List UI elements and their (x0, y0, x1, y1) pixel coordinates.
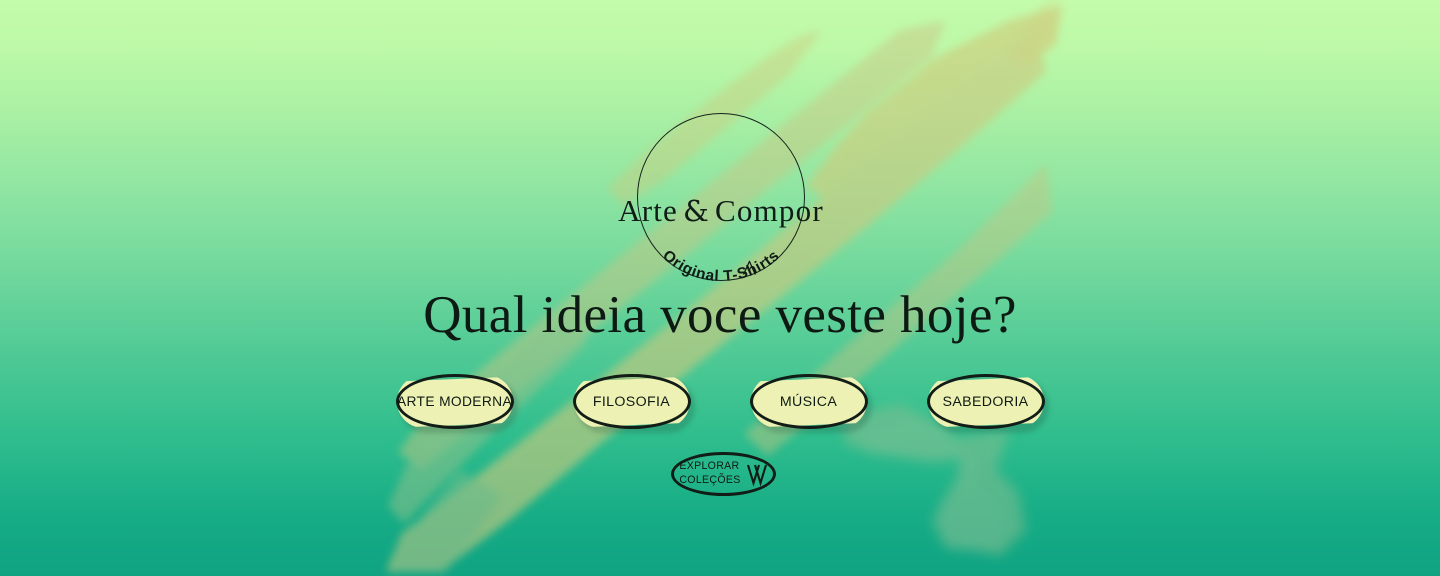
double-chevron-down-icon (746, 461, 768, 487)
category-pill-label: FILOSOFIA (593, 394, 670, 410)
category-pill-label: ARTE MODERNA (397, 394, 512, 409)
brand-logo[interactable]: Arte&Compor Original T-Shirts (637, 113, 805, 281)
category-pill-sabedoria[interactable]: SABEDORIA (927, 374, 1045, 429)
cta-label: EXPLORAR COLEÇÕES (679, 460, 740, 487)
category-pill-musica[interactable]: MÚSICA (750, 374, 868, 429)
headline-accented-e: e^ (738, 286, 762, 344)
category-pill-row: ARTE MODERNA FILOSOFIA MÚSICA SABEDORIA (0, 374, 1440, 429)
headline-part-after: veste hoje? (762, 286, 1017, 344)
page-title: Qual ideia voce^ veste hoje? (0, 286, 1440, 345)
logo-arc-tagline-text: Original T-Shirts (659, 247, 783, 285)
category-pill-filosofia[interactable]: FILOSOFIA (573, 374, 691, 429)
hero-banner: Arte&Compor Original T-Shirts Qual ideia… (0, 0, 1440, 576)
category-pill-arte-moderna[interactable]: ARTE MODERNA (396, 374, 514, 429)
explore-collections-button[interactable]: EXPLORAR COLEÇÕES (671, 452, 776, 496)
category-pill-label: MÚSICA (780, 394, 837, 410)
cta-label-line2: COLEÇÕES (679, 474, 740, 488)
cta-label-line1: EXPLORAR (679, 460, 740, 474)
headline-e-base: e (738, 286, 762, 344)
circumflex-accent-mark: ^ (742, 256, 756, 286)
category-pill-label: SABEDORIA (943, 394, 1029, 410)
headline-part-before: Qual ideia voc (423, 286, 738, 344)
